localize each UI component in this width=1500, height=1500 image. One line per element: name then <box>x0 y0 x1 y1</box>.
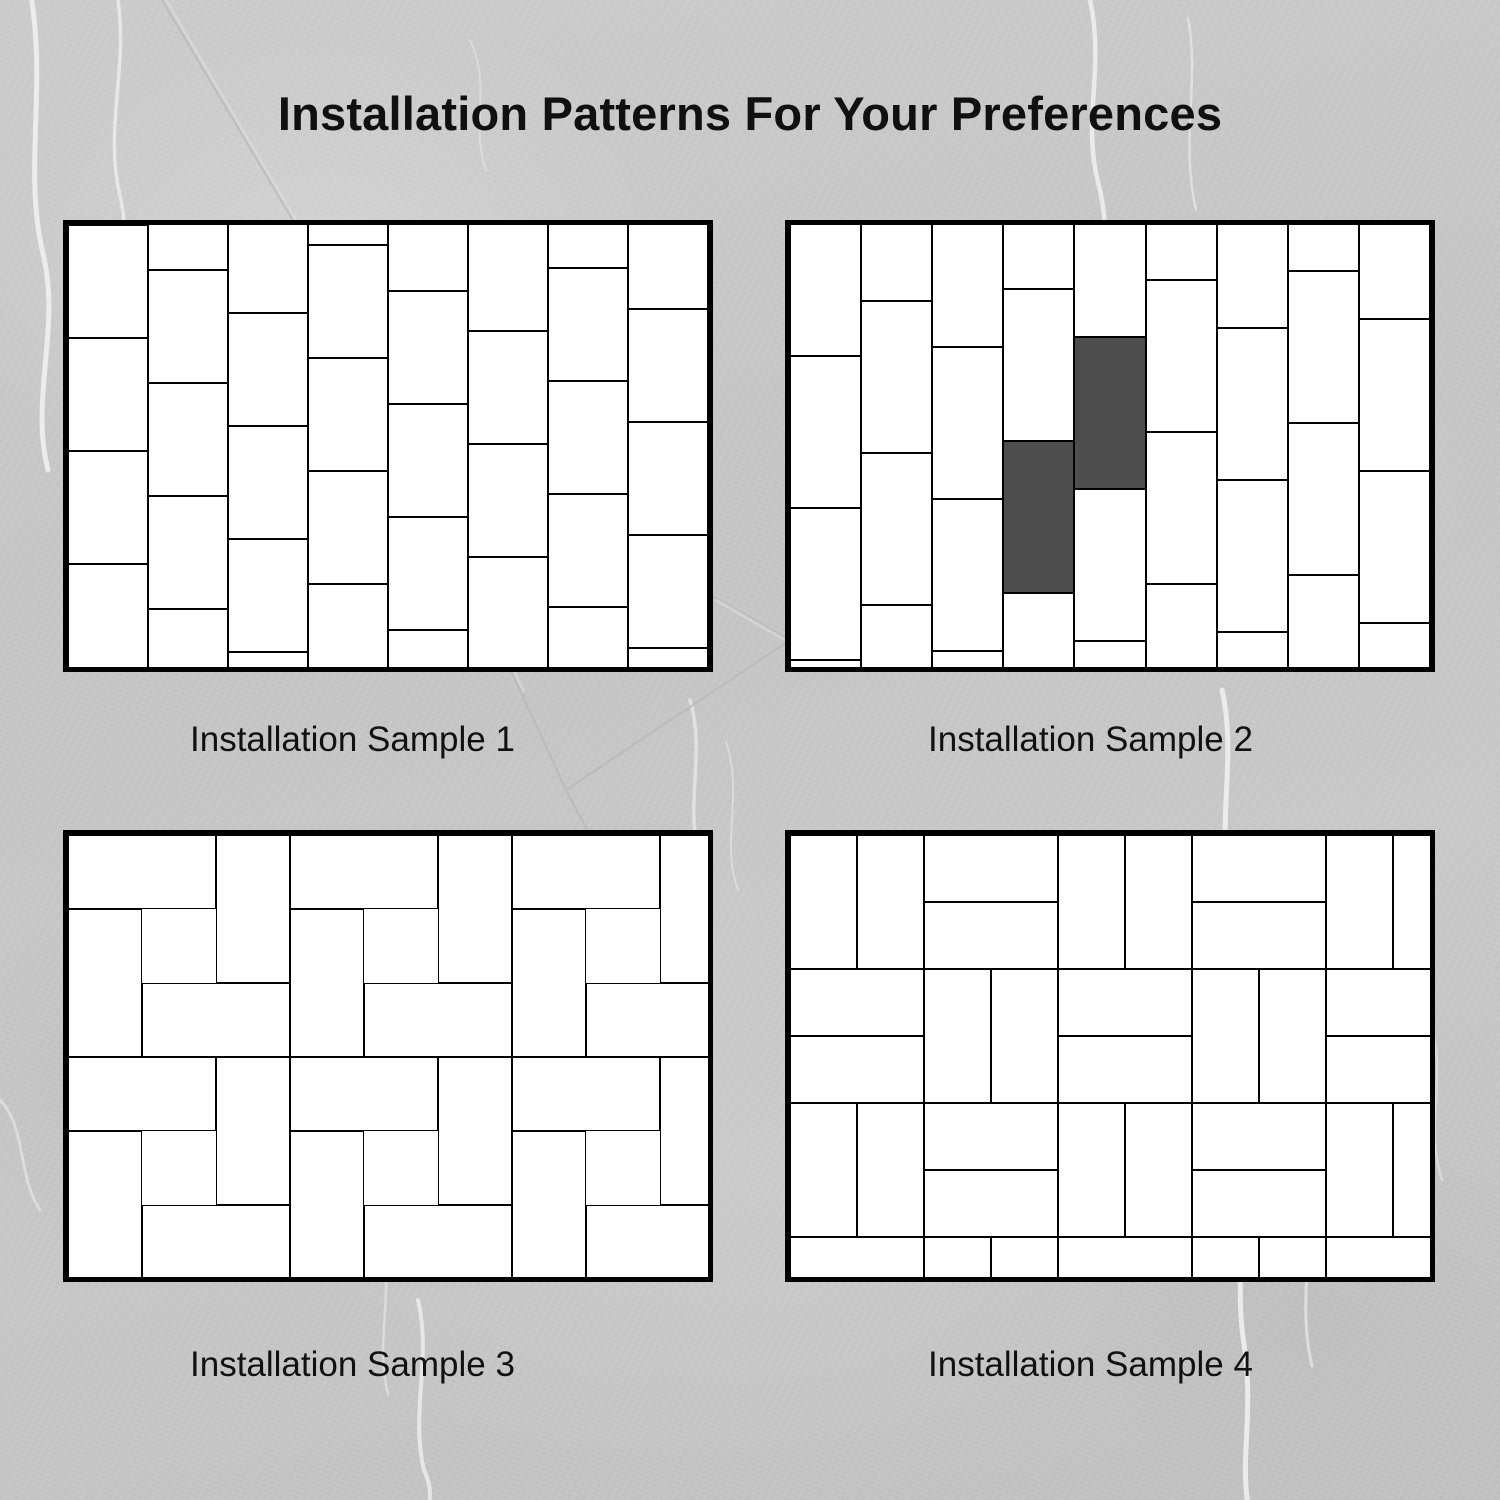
panel-caption-2: Installation Sample 2 <box>928 720 1253 760</box>
tile <box>148 609 228 671</box>
tile <box>790 660 861 671</box>
pattern-panel-4[interactable] <box>785 830 1435 1282</box>
tile <box>1288 423 1359 575</box>
tile-grid-1 <box>68 225 708 667</box>
tile <box>1359 221 1430 319</box>
tile <box>1326 835 1393 969</box>
tile <box>216 835 290 983</box>
page-title: Installation Patterns For Your Preferenc… <box>0 86 1500 141</box>
tile <box>924 902 1058 969</box>
pattern-panel-2[interactable] <box>785 220 1435 672</box>
tile <box>68 225 148 338</box>
tile <box>290 835 438 909</box>
tile <box>991 1237 1058 1281</box>
tile <box>1192 902 1326 969</box>
tile <box>512 1057 660 1131</box>
tile <box>308 221 388 245</box>
tile <box>468 444 548 557</box>
tile <box>68 338 148 451</box>
tile <box>1074 221 1145 337</box>
tile <box>932 221 1003 347</box>
tile <box>68 451 148 564</box>
tile <box>228 426 308 539</box>
tile <box>790 835 857 969</box>
tile <box>1259 1237 1326 1281</box>
tile <box>290 1057 438 1131</box>
tile <box>628 309 708 422</box>
tile <box>628 535 708 648</box>
tile <box>924 1237 991 1281</box>
tile <box>924 835 1058 902</box>
tile <box>924 1170 1058 1237</box>
tile <box>308 245 388 358</box>
tile <box>548 268 628 381</box>
tile <box>68 909 142 1057</box>
tile <box>68 835 216 909</box>
tile <box>1192 1103 1326 1170</box>
tile <box>1192 969 1259 1103</box>
tile-grid-3 <box>68 835 708 1277</box>
tile <box>628 648 708 671</box>
tile <box>228 539 308 652</box>
panel-caption-3: Installation Sample 3 <box>190 1345 515 1385</box>
tile <box>216 1057 290 1205</box>
tile <box>1217 480 1288 632</box>
tile <box>148 221 228 270</box>
tile <box>68 1131 142 1279</box>
tile <box>1192 1237 1259 1281</box>
panel-caption-4: Installation Sample 4 <box>928 1345 1253 1385</box>
tile <box>924 969 991 1103</box>
tile <box>512 835 660 909</box>
tile <box>1074 489 1145 641</box>
tile <box>1326 1237 1434 1281</box>
tile <box>857 835 924 969</box>
tile <box>932 651 1003 671</box>
tile <box>1058 1103 1125 1237</box>
tile <box>1393 835 1434 969</box>
tile <box>1393 1103 1434 1237</box>
tile <box>388 517 468 630</box>
tile <box>1058 835 1125 969</box>
tile <box>1359 623 1430 671</box>
tile <box>790 969 924 1036</box>
tile <box>1288 575 1359 671</box>
tile <box>790 1036 924 1103</box>
tile <box>142 1205 290 1279</box>
tile <box>388 221 468 291</box>
tile <box>388 404 468 517</box>
tile <box>308 358 388 471</box>
tile <box>290 909 364 1057</box>
tile <box>1326 1036 1434 1103</box>
tile <box>148 496 228 609</box>
tile <box>857 1103 924 1237</box>
tile <box>1003 593 1074 671</box>
tile <box>790 1103 857 1237</box>
tile <box>1074 641 1145 671</box>
tile <box>628 422 708 535</box>
tile <box>1146 221 1217 280</box>
tile <box>438 835 512 983</box>
tile <box>148 383 228 496</box>
tile <box>586 1205 712 1279</box>
tile <box>1146 432 1217 584</box>
tile <box>924 1103 1058 1170</box>
panel-caption-1: Installation Sample 1 <box>190 720 515 760</box>
tile <box>932 347 1003 499</box>
tile <box>68 1057 216 1131</box>
tile <box>228 221 308 313</box>
tile <box>1192 835 1326 902</box>
tile <box>142 983 290 1057</box>
tile <box>1003 289 1074 441</box>
tile <box>660 1057 712 1205</box>
tile <box>388 291 468 404</box>
tile <box>628 221 708 309</box>
tile <box>364 983 512 1057</box>
infographic-page: Installation Patterns For Your Preferenc… <box>0 0 1500 1500</box>
tile <box>1217 632 1288 671</box>
tile <box>1146 280 1217 432</box>
tile <box>1125 1103 1192 1237</box>
tile <box>548 494 628 607</box>
tile <box>660 835 712 983</box>
tile <box>991 969 1058 1103</box>
tile <box>1217 221 1288 328</box>
pattern-panel-3[interactable] <box>63 830 713 1282</box>
tile <box>1192 1170 1326 1237</box>
tile <box>468 557 548 670</box>
tile <box>1003 221 1074 289</box>
tile <box>1288 221 1359 271</box>
tile <box>1359 471 1430 623</box>
tile <box>388 630 468 671</box>
tile <box>586 983 712 1057</box>
tile <box>548 607 628 671</box>
tile <box>1288 271 1359 423</box>
tile <box>1058 1237 1192 1281</box>
tile <box>548 221 628 268</box>
tile <box>364 1205 512 1279</box>
tile <box>1125 835 1192 969</box>
tile <box>468 221 548 331</box>
tile <box>308 471 388 584</box>
tile <box>790 221 861 356</box>
tile <box>290 1131 364 1279</box>
tile <box>512 1131 586 1279</box>
tile <box>1146 584 1217 671</box>
tile <box>1259 969 1326 1103</box>
tile <box>1326 969 1434 1036</box>
tile <box>790 356 861 508</box>
tile-grid-4 <box>790 835 1430 1277</box>
tile <box>861 605 932 671</box>
tile <box>1058 969 1192 1036</box>
tile <box>790 1237 924 1281</box>
tile <box>932 499 1003 651</box>
tile-accent <box>1003 441 1074 593</box>
tile <box>148 270 228 383</box>
tile <box>861 301 932 453</box>
pattern-panel-1[interactable] <box>63 220 713 672</box>
tile <box>68 564 148 671</box>
tile <box>512 909 586 1057</box>
tile <box>1326 1103 1393 1237</box>
tile <box>1217 328 1288 480</box>
tile <box>228 652 308 671</box>
tile <box>1058 1036 1192 1103</box>
tile <box>548 381 628 494</box>
tile <box>861 453 932 605</box>
tile <box>228 313 308 426</box>
tile <box>468 331 548 444</box>
tile <box>861 221 932 301</box>
tile-grid-2 <box>790 225 1430 667</box>
tile <box>1359 319 1430 471</box>
tile <box>438 1057 512 1205</box>
tile-accent <box>1074 337 1145 489</box>
tile <box>790 508 861 660</box>
tile <box>308 584 388 671</box>
